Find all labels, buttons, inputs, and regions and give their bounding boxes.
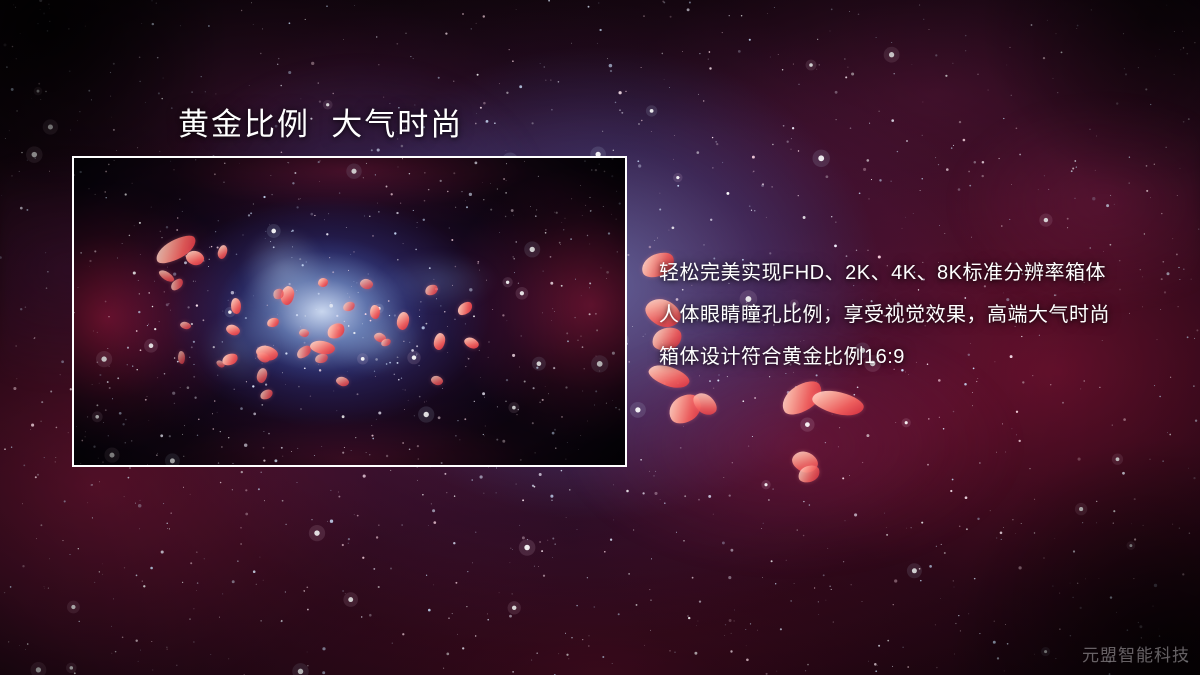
watermark: 元盟智能科技 bbox=[1082, 641, 1190, 666]
page-title: 黄金比例 大气时尚 bbox=[178, 99, 463, 144]
photo-vignette bbox=[74, 158, 625, 465]
body-line-2: 人体眼睛瞳孔比例，享受视觉效果，高端大气时尚 bbox=[659, 294, 1159, 336]
presentation-slide: 黄金比例 大气时尚 轻松完美实现FHD、2K、4K、8K标准分辨率箱体 人体眼睛… bbox=[0, 0, 1200, 675]
body-line-1: 轻松完美实现FHD、2K、4K、8K标准分辨率箱体 bbox=[659, 252, 1159, 294]
body-text-block: 轻松完美实现FHD、2K、4K、8K标准分辨率箱体 人体眼睛瞳孔比例，享受视觉效… bbox=[659, 252, 1159, 378]
photo-frame bbox=[72, 156, 627, 467]
body-line-3: 箱体设计符合黄金比例16:9 bbox=[659, 336, 1159, 378]
